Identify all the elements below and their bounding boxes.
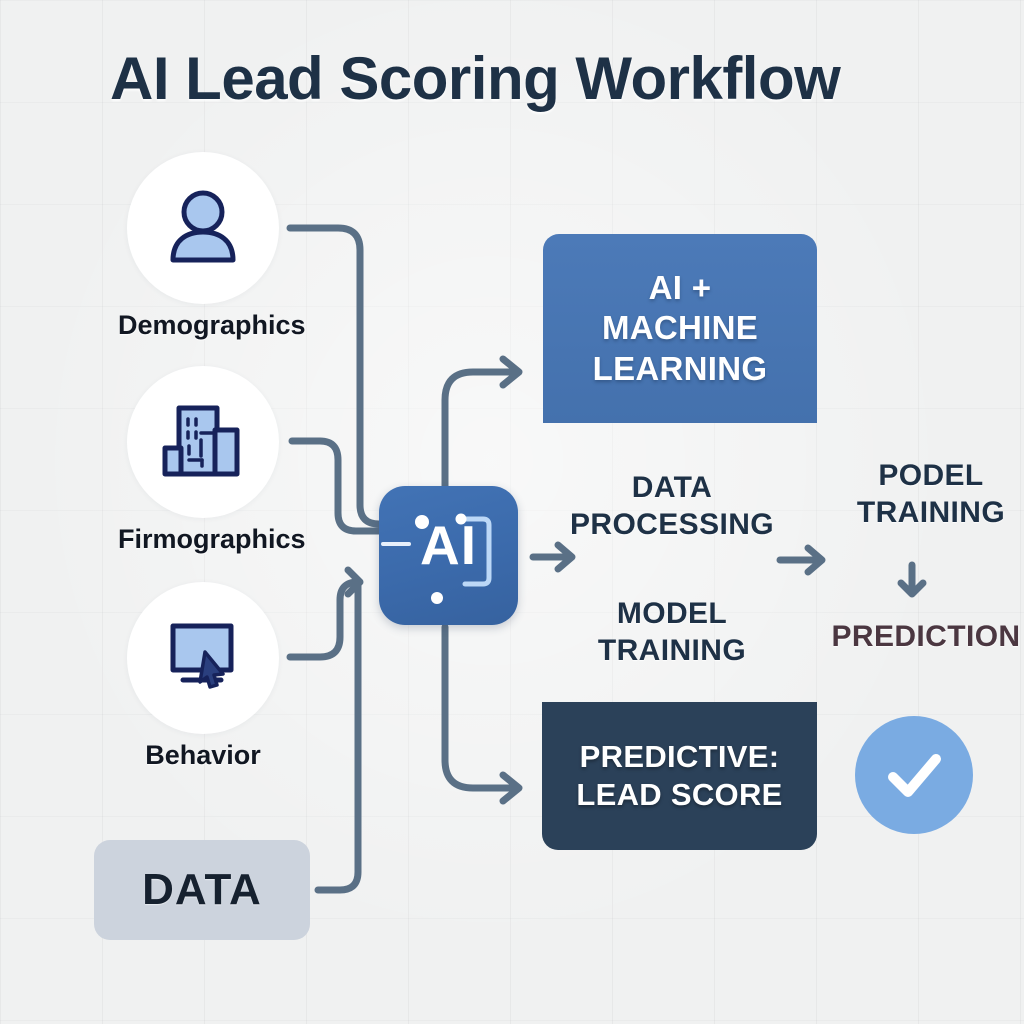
source-label-behavior: Behavior bbox=[118, 740, 288, 771]
monitor-cursor-icon bbox=[157, 612, 249, 704]
source-node-firmographics[interactable]: Firmographics bbox=[118, 366, 288, 555]
source-icon-circle bbox=[127, 152, 279, 304]
source-icon-circle bbox=[127, 582, 279, 734]
stage-model-training: MODEL TRAINING bbox=[560, 596, 784, 669]
connector-demographics bbox=[290, 228, 379, 524]
person-icon bbox=[157, 182, 249, 274]
predictive-lead-score-box[interactable]: PREDICTIVE: LEAD SCORE bbox=[542, 702, 817, 850]
connector-ai-to-score bbox=[445, 627, 517, 788]
connector-firmographics bbox=[292, 441, 379, 531]
arrowhead-stage-right bbox=[808, 548, 822, 572]
source-node-demographics[interactable]: Demographics bbox=[118, 152, 288, 341]
source-icon-circle bbox=[127, 366, 279, 518]
stage-podel-training: PODEL TRAINING bbox=[836, 458, 1024, 531]
ai-core-label: AI bbox=[379, 518, 518, 573]
connector-data-chip bbox=[318, 582, 358, 890]
arrowhead-ai-to-score bbox=[503, 775, 519, 801]
connector-ai-to-ml bbox=[445, 372, 517, 486]
arrowhead-into-ai bbox=[348, 570, 360, 594]
connector-behavior bbox=[290, 582, 358, 657]
arrowhead-down-prediction bbox=[901, 583, 923, 594]
data-chip-label: DATA bbox=[142, 865, 262, 915]
source-label-demographics: Demographics bbox=[118, 310, 288, 341]
stage-data-processing: DATA PROCESSING bbox=[560, 470, 784, 543]
arrowhead-ai-right bbox=[558, 545, 572, 569]
arrowhead-ai-to-ml bbox=[503, 359, 519, 385]
check-icon bbox=[878, 739, 950, 811]
page-title: AI Lead Scoring Workflow bbox=[110, 44, 840, 113]
building-icon bbox=[157, 396, 249, 488]
source-label-firmographics: Firmographics bbox=[118, 524, 288, 555]
stage-prediction: PREDICTION bbox=[826, 620, 1024, 654]
ai-core-node[interactable]: AI bbox=[379, 486, 518, 625]
source-node-behavior[interactable]: Behavior bbox=[118, 582, 288, 771]
ai-machine-learning-label: AI + MACHINE LEARNING bbox=[593, 268, 768, 389]
success-check-badge bbox=[855, 716, 973, 834]
ai-machine-learning-box[interactable]: AI + MACHINE LEARNING bbox=[543, 234, 817, 423]
data-chip[interactable]: DATA bbox=[94, 840, 310, 940]
diagram-canvas: AI Lead Scoring Workflow Demographics bbox=[0, 0, 1024, 1024]
predictive-lead-score-label: PREDICTIVE: LEAD SCORE bbox=[576, 738, 782, 814]
